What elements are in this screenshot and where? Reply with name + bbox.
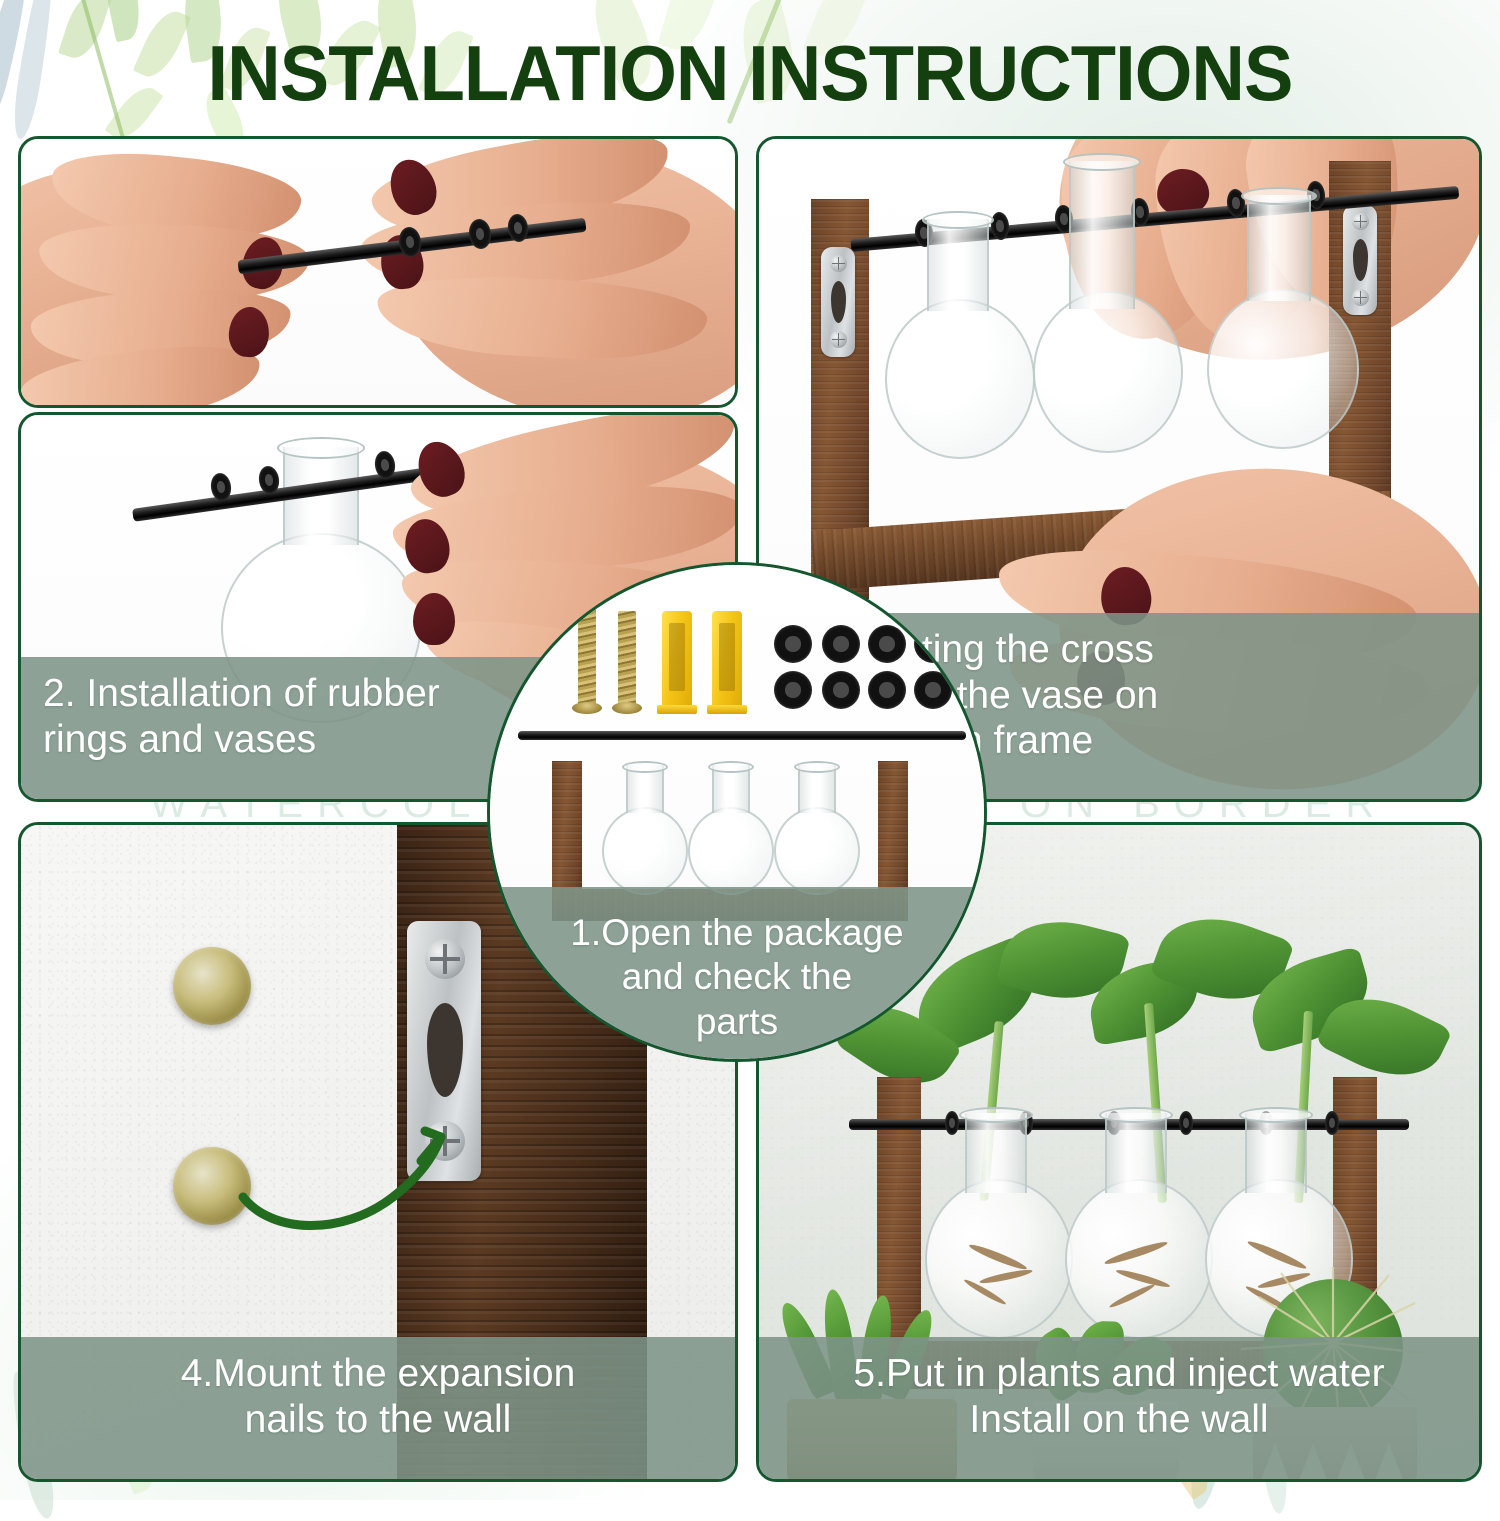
rubber-ring	[1179, 1111, 1193, 1135]
glass-vase-lip	[794, 761, 840, 773]
rubber-ring	[774, 671, 812, 709]
glass-vase-lip	[1239, 1107, 1313, 1123]
rubber-ring	[914, 671, 952, 709]
glass-vase-lip	[922, 211, 994, 229]
panel4-caption: 4.Mount the expansion nails to the wall	[21, 1337, 735, 1479]
caption-line: and check the	[530, 955, 944, 999]
caption-line: Install on the wall	[781, 1397, 1457, 1443]
rubber-ring	[945, 1111, 959, 1135]
bracket-screw	[830, 331, 847, 348]
glass-vase	[885, 299, 1035, 459]
caption-line: nails to the wall	[43, 1397, 713, 1443]
panel-rubber-rings-on-rod[interactable]	[18, 136, 738, 408]
caption-line: 4.Mount the expansion	[43, 1351, 713, 1397]
glass-vase	[602, 807, 688, 895]
glass-vase-lip	[959, 1107, 1033, 1123]
keyhole-bracket-left	[821, 247, 855, 357]
bracket-screw	[1352, 289, 1369, 306]
glass-vase-neck	[1105, 1113, 1167, 1193]
plant-root	[1115, 1267, 1171, 1289]
glass-vase	[688, 807, 774, 895]
glass-vase-neck	[1245, 1113, 1307, 1193]
keyhole-slot	[831, 281, 846, 323]
glass-vase-neck	[965, 1113, 1027, 1193]
glass-vase-neck	[927, 219, 989, 311]
glass-vase	[1207, 289, 1359, 449]
glass-vase-lip	[708, 761, 754, 773]
glass-vase	[1033, 291, 1183, 453]
bracket-screw	[1352, 213, 1369, 230]
cross-shaft-rod	[518, 731, 966, 740]
plant-root	[1103, 1239, 1168, 1267]
plant-root	[968, 1242, 1028, 1273]
rubber-ring	[868, 671, 906, 709]
glass-vase	[1065, 1179, 1213, 1339]
plant-root	[1108, 1282, 1156, 1309]
plant-root	[979, 1267, 1033, 1285]
caption-line: parts	[530, 1000, 944, 1044]
rubber-ring	[914, 625, 952, 663]
panel5-caption: 5.Put in plants and inject water Install…	[759, 1337, 1479, 1479]
brass-screw	[578, 609, 596, 707]
wall-anchor	[712, 611, 742, 709]
glass-vase-neck	[1069, 161, 1135, 309]
glass-vase	[774, 807, 860, 895]
rubber-ring	[1325, 1111, 1339, 1135]
glass-vase-lip	[1099, 1107, 1173, 1123]
glass-vase-lip	[277, 437, 365, 459]
rubber-ring	[774, 625, 812, 663]
rubber-ring	[868, 625, 906, 663]
glass-vase-lip	[1241, 187, 1317, 205]
instruction-poster: INSTALLATION INSTRUCTIONS WATERCOLOR ON …	[0, 0, 1500, 1500]
brass-screw	[618, 611, 636, 707]
caption-line: 1.Open the package	[530, 911, 944, 955]
fingernail	[413, 593, 455, 645]
glass-vase-lip	[622, 761, 668, 773]
bracket-screw	[830, 255, 847, 272]
rubber-ring	[822, 671, 860, 709]
rubber-ring	[822, 625, 860, 663]
glass-vase-lip	[1063, 153, 1141, 171]
center-circle-parts-overview[interactable]: 1.Open the package and check the parts	[487, 562, 987, 1062]
glass-vase-neck	[1247, 195, 1311, 301]
page-title: INSTALLATION INSTRUCTIONS	[38, 28, 1463, 119]
wall-anchor	[662, 611, 692, 709]
caption-line: 5.Put in plants and inject water	[781, 1351, 1457, 1397]
keyhole-slot	[1353, 239, 1368, 281]
panel1-photo	[21, 139, 735, 405]
circle-caption: 1.Open the package and check the parts	[490, 887, 984, 1059]
keyhole-bracket-right	[1343, 205, 1377, 315]
